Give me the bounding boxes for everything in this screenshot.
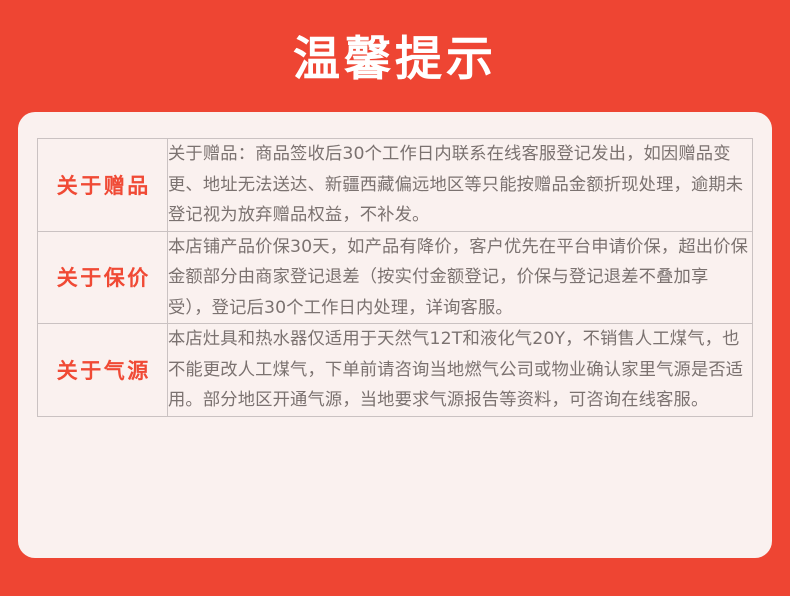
- table-row: 关于赠品 关于赠品：商品签收后30个工作日内联系在线客服登记发出，如因赠品变更、…: [38, 139, 753, 232]
- notice-label-gift: 关于赠品: [38, 139, 168, 232]
- notice-body-price-protection: 本店铺产品价保30天，如产品有降价，客户优先在平台申请价保，超出价保金额部分由商…: [168, 231, 753, 324]
- notice-banner: 温馨提示 关于赠品 关于赠品：商品签收后30个工作日内联系在线客服登记发出，如因…: [0, 0, 790, 596]
- title-bar: 温馨提示: [0, 0, 790, 112]
- notice-body-gas-source: 本店灶具和热水器仅适用于天然气12T和液化气20Y，不销售人工煤气，也不能更改人…: [168, 324, 753, 417]
- notice-label-gas-source: 关于气源: [38, 324, 168, 417]
- notice-body-gift: 关于赠品：商品签收后30个工作日内联系在线客服登记发出，如因赠品变更、地址无法送…: [168, 139, 753, 232]
- notice-label-price-protection: 关于保价: [38, 231, 168, 324]
- table-row: 关于气源 本店灶具和热水器仅适用于天然气12T和液化气20Y，不销售人工煤气，也…: [38, 324, 753, 417]
- notice-table: 关于赠品 关于赠品：商品签收后30个工作日内联系在线客服登记发出，如因赠品变更、…: [37, 138, 753, 417]
- table-row: 关于保价 本店铺产品价保30天，如产品有降价，客户优先在平台申请价保，超出价保金…: [38, 231, 753, 324]
- notice-panel: 关于赠品 关于赠品：商品签收后30个工作日内联系在线客服登记发出，如因赠品变更、…: [18, 112, 772, 558]
- page-title: 温馨提示: [293, 36, 497, 83]
